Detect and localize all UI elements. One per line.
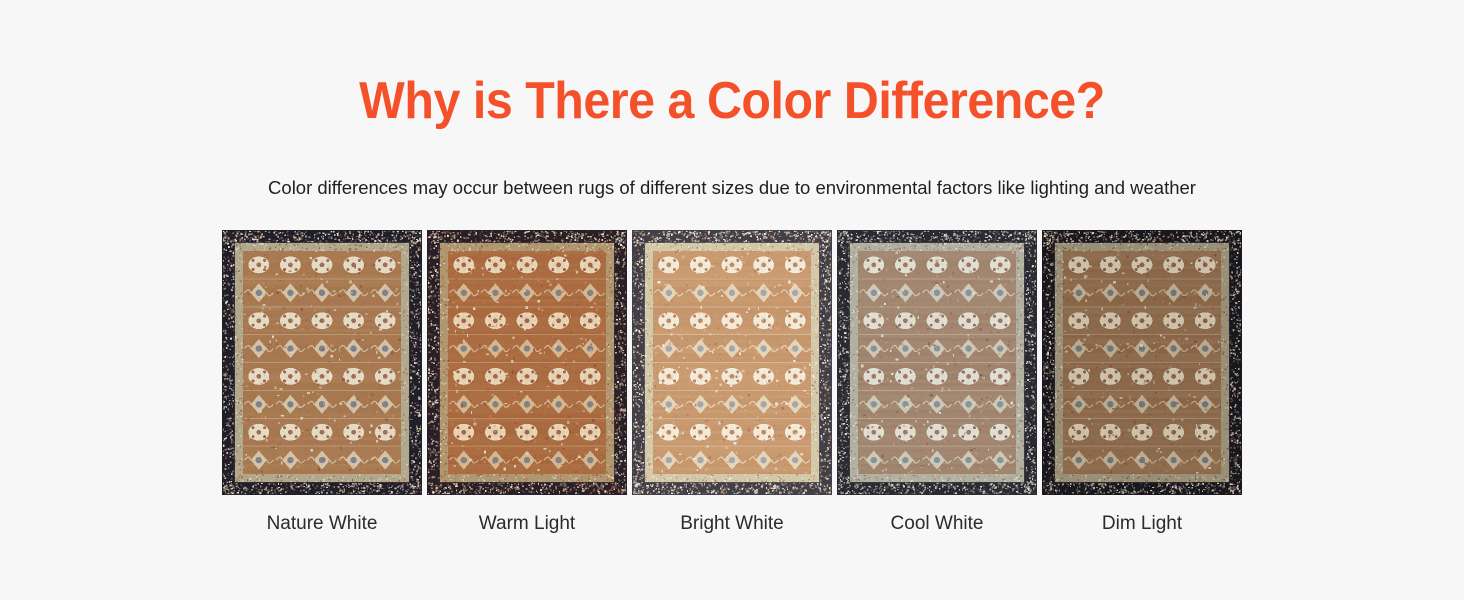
rug-caption: Nature White xyxy=(267,513,378,536)
list-item[interactable]: Warm Light xyxy=(427,230,627,536)
rug-thumbnail-cool-white[interactable] xyxy=(837,230,1037,495)
rug-thumbnail-dim-light[interactable] xyxy=(1042,230,1242,495)
rug-caption: Cool White xyxy=(891,513,984,536)
list-item[interactable]: Nature White xyxy=(222,230,422,536)
color-difference-section: Why is There a Color Difference? Color d… xyxy=(0,0,1464,600)
rug-caption: Dim Light xyxy=(1102,513,1182,536)
list-item[interactable]: Cool White xyxy=(837,230,1037,536)
rug-thumbnail-warm-light[interactable] xyxy=(427,230,627,495)
list-item[interactable]: Bright White xyxy=(632,230,832,536)
rug-thumbnail-nature-white[interactable] xyxy=(222,230,422,495)
list-item[interactable]: Dim Light xyxy=(1042,230,1242,536)
rug-caption: Warm Light xyxy=(479,513,575,536)
rug-thumbnail-bright-white[interactable] xyxy=(632,230,832,495)
page-title: Why is There a Color Difference? xyxy=(51,72,1413,132)
rug-caption: Bright White xyxy=(680,513,783,536)
page-subtitle: Color differences may occur between rugs… xyxy=(0,176,1464,200)
rug-lighting-gallery: Nature White Warm Light Bright White Coo… xyxy=(222,230,1242,536)
